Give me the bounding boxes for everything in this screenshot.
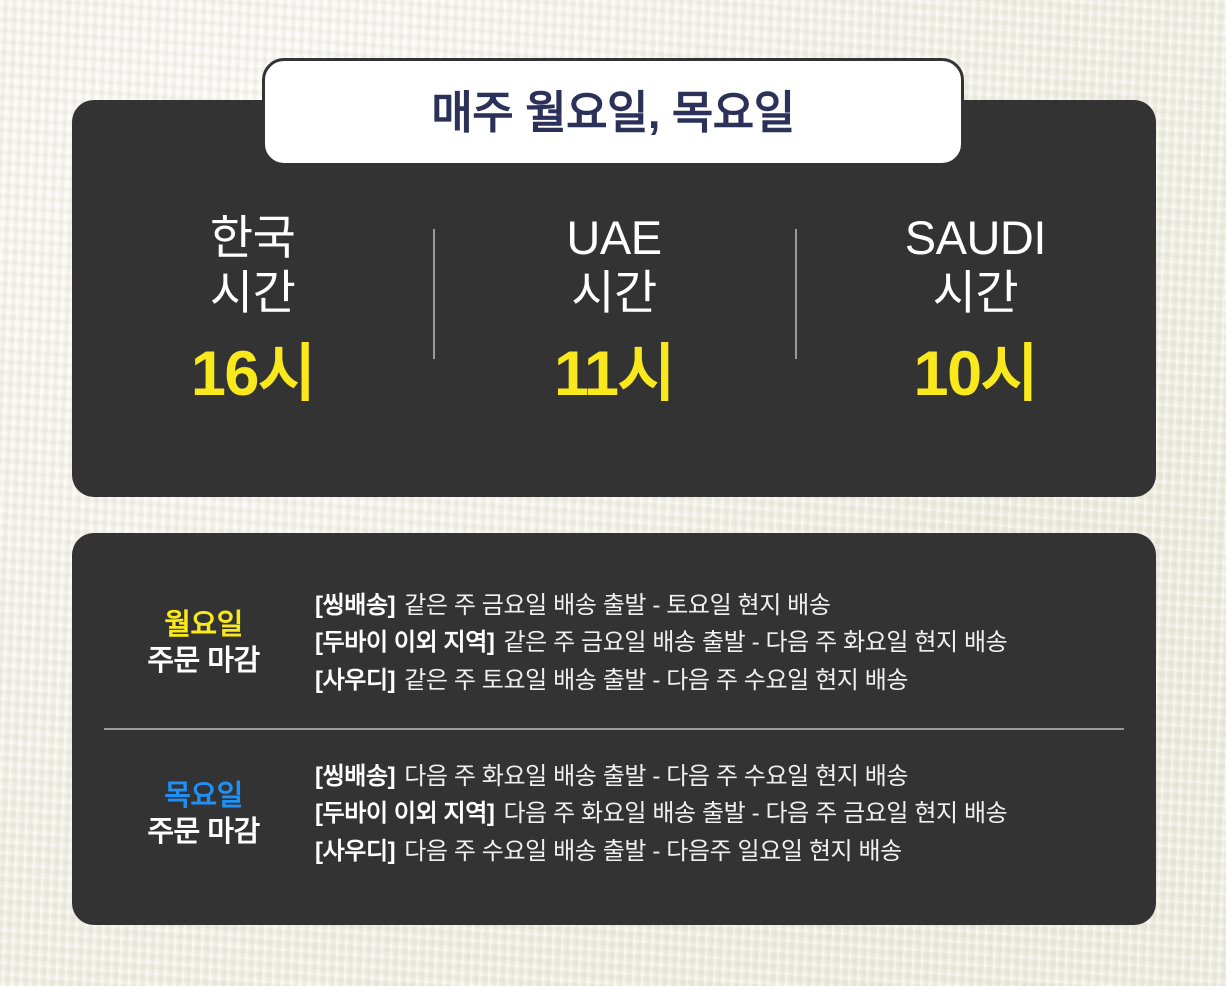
schedule-line-text: 다음 주 화요일 배송 출발 - 다음 주 수요일 현지 배송 (404, 763, 908, 790)
schedule-line: [사우디]같은 주 토요일 배송 출발 - 다음 주 수요일 현지 배송 (315, 667, 1128, 695)
region-name-uae: UAE (566, 211, 661, 266)
schedule-cutoff-label-thursday: 주문 마감 (100, 815, 307, 850)
schedule-line-text: 다음 주 화요일 배송 출발 - 다음 주 금요일 현지 배송 (503, 800, 1007, 827)
schedule-line-tag: [두바이 이외 지역] (315, 800, 494, 827)
schedule-line-tag: [사우디] (315, 838, 395, 865)
region-sub-saudi: 시간 (933, 266, 1018, 321)
schedule-lines-thursday: [씽배송]다음 주 화요일 배송 출발 - 다음 주 수요일 현지 배송 [두바… (315, 763, 1128, 866)
region-time-uae: 11시 (554, 343, 674, 406)
timezone-column-uae: UAE 시간 11시 (433, 175, 794, 406)
schedule-line: [사우디]다음 주 수요일 배송 출발 - 다음주 일요일 현지 배송 (315, 838, 1128, 866)
schedule-row-monday: 월요일 주문 마감 [씽배송]같은 주 금요일 배송 출발 - 토요일 현지 배… (100, 559, 1128, 728)
page-title: 매주 월요일, 목요일 (431, 90, 794, 135)
schedule-line: [두바이 이외 지역]같은 주 금요일 배송 출발 - 다음 주 화요일 현지 … (315, 629, 1128, 657)
schedule-line-text: 같은 주 토요일 배송 출발 - 다음 주 수요일 현지 배송 (404, 667, 908, 694)
schedule-line-text: 다음 주 수요일 배송 출발 - 다음주 일요일 현지 배송 (404, 838, 902, 865)
schedule-row-thursday: 목요일 주문 마감 [씽배송]다음 주 화요일 배송 출발 - 다음 주 수요일… (100, 730, 1128, 899)
region-name-saudi: SAUDI (905, 211, 1046, 266)
schedule-row-label-thursday: 목요일 주문 마감 (100, 779, 315, 850)
timezone-column-saudi: SAUDI 시간 10시 (795, 175, 1156, 406)
schedule-line-tag: [두바이 이외 지역] (315, 629, 494, 656)
region-time-saudi: 10시 (914, 343, 1038, 406)
schedule-lines-monday: [씽배송]같은 주 금요일 배송 출발 - 토요일 현지 배송 [두바이 이외 … (315, 592, 1128, 695)
schedule-cutoff-label-monday: 주문 마감 (100, 644, 307, 679)
schedule-line: [두바이 이외 지역]다음 주 화요일 배송 출발 - 다음 주 금요일 현지 … (315, 800, 1128, 828)
timezone-column-korea: 한국 시간 16시 (72, 175, 433, 406)
schedule-line-text: 같은 주 금요일 배송 출발 - 다음 주 화요일 현지 배송 (503, 629, 1007, 656)
timezone-columns: 한국 시간 16시 UAE 시간 11시 SAUDI 시간 10시 (72, 175, 1156, 475)
region-name-korea: 한국 (210, 211, 295, 266)
region-sub-uae: 시간 (571, 266, 656, 321)
schedule-day-monday: 월요일 (100, 608, 307, 643)
schedule-row-label-monday: 월요일 주문 마감 (100, 608, 315, 679)
schedule-line-text: 같은 주 금요일 배송 출발 - 토요일 현지 배송 (404, 592, 830, 619)
schedule-line-tag: [씽배송] (315, 763, 395, 790)
schedule-line: [씽배송]같은 주 금요일 배송 출발 - 토요일 현지 배송 (315, 592, 1128, 620)
region-time-korea: 16시 (191, 343, 315, 406)
schedule-line-tag: [사우디] (315, 667, 395, 694)
schedule-day-thursday: 목요일 (100, 779, 307, 814)
infographic-stage: 한국 시간 16시 UAE 시간 11시 SAUDI 시간 10시 매주 월요일… (0, 0, 1226, 986)
schedule-card: 월요일 주문 마감 [씽배송]같은 주 금요일 배송 출발 - 토요일 현지 배… (72, 533, 1156, 925)
schedule-line: [씽배송]다음 주 화요일 배송 출발 - 다음 주 수요일 현지 배송 (315, 763, 1128, 791)
region-sub-korea: 시간 (210, 266, 295, 321)
header-badge: 매주 월요일, 목요일 (262, 58, 964, 166)
schedule-line-tag: [씽배송] (315, 592, 395, 619)
